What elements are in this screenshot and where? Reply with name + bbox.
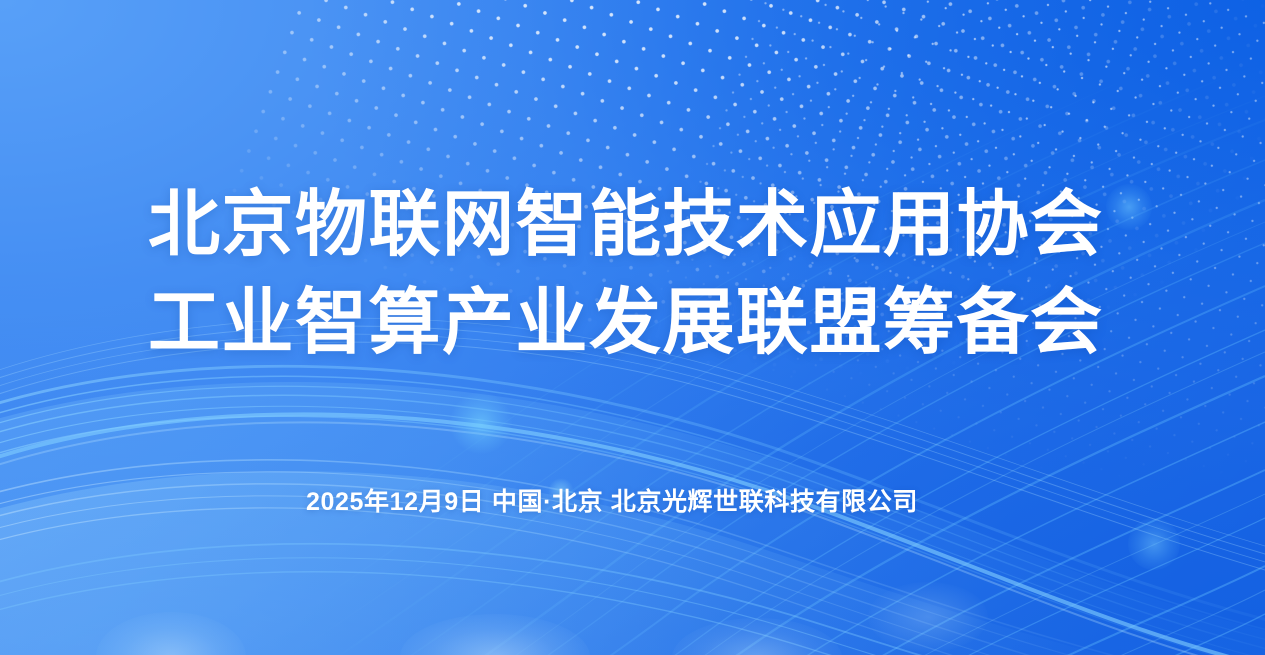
conference-banner: 北京物联网智能技术应用协会 工业智算产业发展联盟筹备会 2025年12月9日 中… [0,0,1265,655]
event-subtitle: 2025年12月9日 中国·北京 北京光辉世联科技有限公司 [306,482,918,518]
event-title-line-1: 北京物联网智能技术应用协会 [148,176,1148,274]
event-title: 北京物联网智能技术应用协会 工业智算产业发展联盟筹备会 [148,176,1148,372]
event-title-line-2: 工业智算产业发展联盟筹备会 [148,274,1148,372]
banner-content: 北京物联网智能技术应用协会 工业智算产业发展联盟筹备会 2025年12月9日 中… [0,0,1265,655]
